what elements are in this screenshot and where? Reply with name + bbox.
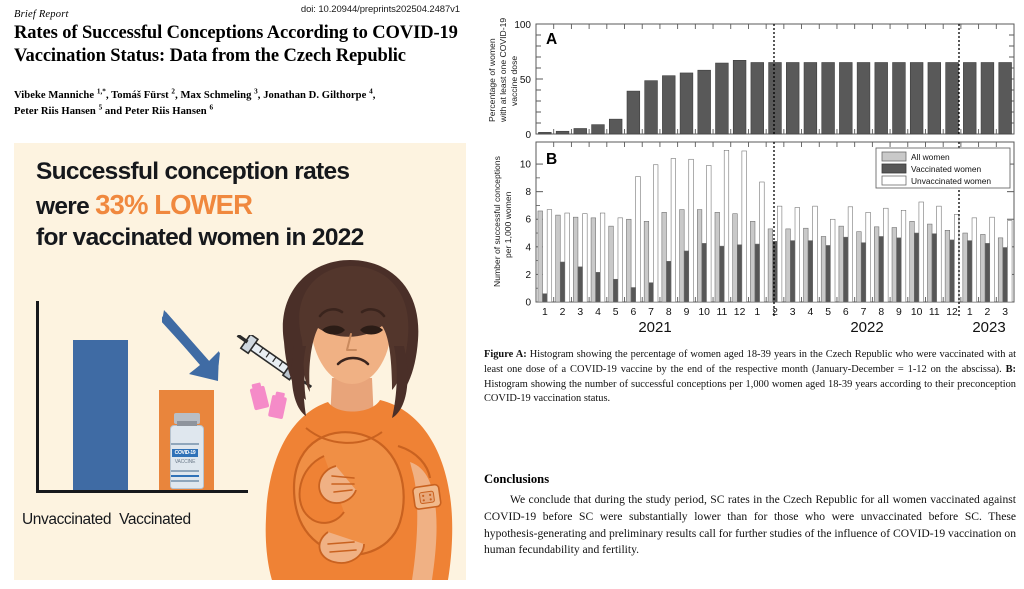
- vial-stripe-4: [171, 480, 199, 482]
- left-column: Brief Report doi: 10.20944/preprints2025…: [0, 0, 472, 589]
- legend-swatch-unvaccinated: [882, 176, 906, 185]
- panel-b-bar: [609, 226, 614, 302]
- panel-b-bar: [583, 214, 588, 302]
- panel-b-bar: [556, 215, 561, 302]
- legend-label-unvaccinated: Unvaccinated women: [911, 176, 991, 186]
- panel-a-ylabel-line3: vaccine dose: [509, 56, 519, 106]
- panel-a-bar: [893, 63, 906, 135]
- panel-b-bar: [706, 165, 711, 302]
- page-title: Rates of Successful Conceptions Accordin…: [14, 22, 462, 69]
- panel-b-ytick-label: 0: [525, 298, 531, 309]
- panel-b-bar: [874, 227, 879, 302]
- preprint-page: Brief Report doi: 10.20944/preprints2025…: [0, 0, 1024, 589]
- panel-b-month-label: 2: [985, 307, 991, 318]
- panel-b-bar: [826, 245, 831, 302]
- panel-b-month-label: 3: [577, 307, 583, 318]
- panel-b-year-2021: 2021: [638, 319, 671, 336]
- panel-b-month-label: 1: [967, 307, 973, 318]
- panel-b-month-label: 10: [698, 307, 710, 318]
- panel-a-bar: [574, 129, 587, 135]
- panel-b-ytick-label: 2: [525, 270, 531, 281]
- panel-a-ytick-100: 100: [514, 20, 531, 31]
- panel-b-month-label: 5: [825, 307, 831, 318]
- panel-b-bar: [910, 221, 915, 302]
- vial-stripe-3: [171, 475, 199, 477]
- panel-a-ylabel-line1: Percentage of women: [487, 38, 497, 122]
- axis-label-vaccinated: Vaccinated: [119, 511, 191, 529]
- panel-b-bar: [839, 226, 844, 302]
- panel-b: Number of successful conceptions per 1,0…: [492, 142, 1014, 336]
- panel-b-legend: All women Vaccinated women Unvaccinated …: [876, 148, 1010, 188]
- panel-a-bar: [751, 63, 764, 135]
- panel-b-bar: [680, 210, 685, 302]
- panel-b-month-label: 5: [613, 307, 619, 318]
- panel-b-bar: [919, 202, 924, 302]
- panel-b-bar: [684, 251, 689, 302]
- panel-b-ytick-label: 8: [525, 187, 531, 198]
- panel-a-ytick-0: 0: [525, 130, 531, 141]
- panel-b-bar: [596, 272, 601, 302]
- panel-b-bar: [937, 206, 942, 302]
- panel-b-bar: [578, 267, 583, 302]
- panel-b-bar: [804, 228, 809, 302]
- panel-b-month-label: 8: [666, 307, 672, 318]
- conclusions-body: We conclude that during the study period…: [484, 492, 1016, 559]
- panel-b-bar: [866, 212, 871, 302]
- panel-b-bar: [879, 236, 884, 302]
- panel-b-bar: [613, 279, 618, 302]
- panel-b-bar: [927, 224, 932, 302]
- legend-label-vaccinated: Vaccinated women: [911, 164, 981, 174]
- infographic-headline: Successful conception rates were 33% LOW…: [14, 143, 466, 254]
- panel-b-bar: [892, 228, 897, 302]
- panel-b-bar: [981, 234, 986, 302]
- panel-a-bar: [839, 63, 852, 135]
- headline-line-2-prefix: were: [36, 193, 95, 220]
- headline-highlight: 33% LOWER: [95, 189, 252, 220]
- panel-a-bar: [822, 63, 835, 135]
- panel-b-bar: [733, 214, 738, 302]
- panel-a-bar: [609, 119, 622, 134]
- panel-b-month-label: 3: [1002, 307, 1008, 318]
- panel-a: Percentage of women with at least one CO…: [487, 18, 1014, 141]
- panel-b-month-label: 1: [754, 307, 760, 318]
- panel-a-bar: [786, 63, 799, 135]
- panel-b-bar: [724, 150, 729, 302]
- panel-b-bar: [755, 244, 760, 302]
- panel-b-bar: [600, 213, 605, 302]
- panel-b-bar: [573, 217, 578, 302]
- panel-b-bar: [954, 214, 959, 302]
- panel-b-year-2023: 2023: [972, 319, 1005, 336]
- panel-a-bar: [928, 63, 941, 135]
- panel-b-bar: [671, 159, 676, 302]
- panel-b-bar: [848, 207, 853, 302]
- panel-b-bar: [897, 238, 902, 302]
- panel-b-bar: [963, 233, 968, 302]
- panel-b-month-label: 2: [560, 307, 566, 318]
- panel-a-bar: [875, 63, 888, 135]
- down-arrow-icon: [162, 308, 236, 386]
- caption-a-label: Figure A:: [484, 349, 527, 360]
- panel-a-bar: [698, 70, 711, 134]
- panel-b-bar: [662, 212, 667, 302]
- panel-b-month-label: 6: [630, 307, 636, 318]
- panel-b-ytick-label: 10: [520, 160, 532, 171]
- vial-label-covid: COVID-19: [172, 449, 198, 457]
- panel-a-letter: A: [546, 31, 557, 48]
- panel-b-month-label: 9: [896, 307, 902, 318]
- panel-b-month-label: 8: [878, 307, 884, 318]
- authors-line-1: Vibeke Manniche 1,*, Tomáš Fürst 2, Max …: [14, 90, 375, 101]
- panel-b-bar: [631, 288, 636, 302]
- panel-b-bar: [715, 212, 720, 302]
- panel-a-ytick-50: 50: [520, 75, 532, 86]
- pregnant-woman-illustration: [232, 250, 466, 580]
- headline-line-3: for vaccinated women in 2022: [36, 224, 364, 251]
- panel-a-bar: [910, 63, 923, 135]
- panel-b-month-label: 7: [648, 307, 654, 318]
- panel-b-bar: [737, 245, 742, 302]
- panel-a-bar: [946, 63, 959, 135]
- panel-a-bar: [963, 63, 976, 135]
- right-column: Percentage of women with at least one CO…: [476, 0, 1024, 589]
- panel-b-bar: [813, 206, 818, 302]
- panel-b-bar: [857, 232, 862, 302]
- panel-a-bar: [662, 76, 675, 134]
- conclusions-heading: Conclusions: [484, 472, 549, 487]
- panel-b-month-label: 9: [684, 307, 690, 318]
- panel-b-bar: [644, 221, 649, 302]
- panel-b-month-label: 11: [929, 307, 940, 318]
- vial-label-vaccine: VACCINE: [172, 459, 198, 465]
- panel-a-bar: [645, 81, 658, 134]
- panel-b-bar: [591, 218, 596, 302]
- panel-a-bar: [538, 132, 551, 134]
- panel-b-bar: [1003, 248, 1008, 302]
- panel-b-bar: [808, 241, 813, 302]
- panel-b-bar: [697, 210, 702, 302]
- panel-a-bar: [999, 63, 1012, 135]
- panel-b-bar: [750, 221, 755, 302]
- doi-text: doi: 10.20944/preprints202504.2487v1: [301, 4, 460, 15]
- panel-b-bar: [967, 241, 972, 302]
- panel-b-letter: B: [546, 151, 557, 168]
- panel-b-month-labels: 123456789101112123456789101112123: [542, 307, 1008, 318]
- panel-b-bar: [720, 246, 725, 302]
- panel-b-bar: [945, 230, 950, 302]
- panel-b-bar: [795, 208, 800, 302]
- panel-b-ytick-label: 4: [525, 242, 531, 253]
- panel-a-bar: [592, 125, 605, 134]
- panel-b-bar: [742, 151, 747, 302]
- authors-line-2: Peter Riis Hansen 5 and Peter Riis Hanse…: [14, 106, 213, 117]
- panel-b-bar: [1007, 221, 1012, 302]
- chart-x-axis: [36, 490, 248, 493]
- chart-y-axis: [36, 301, 39, 493]
- caption-a-text: Histogram showing the percentage of wome…: [484, 349, 1016, 375]
- panel-a-bar: [733, 60, 746, 134]
- panel-a-bar: [556, 131, 569, 134]
- author-list: Vibeke Manniche 1,*, Tomáš Fürst 2, Max …: [14, 86, 462, 120]
- vial-cap-ring: [177, 421, 197, 426]
- panel-b-bar: [932, 234, 937, 302]
- panel-b-month-label: 12: [734, 307, 746, 318]
- panel-b-bar: [636, 176, 641, 302]
- panel-b-bar: [538, 211, 543, 302]
- panel-b-bar: [768, 229, 773, 302]
- panel-b-bar: [702, 243, 707, 302]
- legend-swatch-vaccinated: [882, 164, 906, 173]
- panel-b-bar: [990, 217, 995, 302]
- panel-b-bar: [844, 237, 849, 302]
- panel-b-bar: [998, 238, 1003, 302]
- vial-stripe-2: [171, 470, 199, 472]
- panel-b-bar: [914, 233, 919, 302]
- legend-swatch-all-women: [882, 152, 906, 161]
- panel-b-bar: [786, 229, 791, 302]
- panel-a-bar: [627, 91, 640, 134]
- panel-b-bar: [985, 243, 990, 302]
- figure-caption: Figure A: Histogram showing the percenta…: [484, 348, 1016, 407]
- panel-b-month-label: 3: [790, 307, 796, 318]
- panel-b-bar: [972, 218, 977, 302]
- panel-b-year-2022: 2022: [850, 319, 883, 336]
- panel-b-bar: [790, 241, 795, 302]
- panel-a-bar: [804, 63, 817, 135]
- panel-b-bar: [626, 219, 631, 302]
- vaccine-vial-icon: COVID-19 VACCINE: [168, 413, 206, 489]
- bar-unvaccinated: [73, 340, 128, 490]
- header-row: Brief Report doi: 10.20944/preprints2025…: [14, 4, 462, 18]
- panel-b-ytick-label: 6: [525, 215, 531, 226]
- panel-b-month-label: 6: [843, 307, 849, 318]
- panel-b-bar: [689, 159, 694, 302]
- panel-a-bar: [981, 63, 994, 135]
- legend-label-all-women: All women: [911, 152, 950, 162]
- panel-b-bar: [547, 210, 552, 302]
- axis-label-unvaccinated: Unvaccinated: [22, 511, 111, 529]
- headline-line-1: Successful conception rates: [36, 158, 349, 185]
- panel-b-bar: [950, 240, 955, 302]
- panel-a-bar: [769, 63, 782, 135]
- caption-b-label: B:: [1006, 364, 1016, 375]
- panel-b-bar: [543, 294, 548, 302]
- panel-b-month-label: 2: [772, 307, 778, 318]
- panel-b-bar: [901, 210, 906, 302]
- panel-b-ylabel-line2: per 1,000 women: [503, 191, 513, 258]
- panel-b-bar: [821, 236, 826, 302]
- figure-chart: Percentage of women with at least one CO…: [484, 2, 1022, 338]
- vial-stripe-1: [171, 443, 199, 445]
- article-type-label: Brief Report: [14, 9, 69, 20]
- panel-b-month-label: 12: [946, 307, 958, 318]
- panel-b-bar: [777, 206, 782, 302]
- panel-b-month-label: 4: [808, 307, 814, 318]
- panel-a-bar: [680, 73, 693, 134]
- infographic-panel: Successful conception rates were 33% LOW…: [14, 143, 466, 580]
- caption-b-text: Histogram showing the number of successf…: [484, 379, 1016, 405]
- panel-a-bar: [857, 63, 870, 135]
- panel-b-bar: [830, 219, 835, 302]
- panel-b-bar: [760, 182, 765, 302]
- panel-b-bar: [649, 283, 654, 302]
- panel-b-month-label: 11: [716, 307, 727, 318]
- panel-b-bar: [666, 261, 671, 302]
- panel-a-bar: [716, 63, 729, 134]
- panel-b-bar: [618, 218, 623, 302]
- panel-b-bar: [861, 243, 866, 302]
- panel-b-month-label: 4: [595, 307, 601, 318]
- panel-b-bar: [565, 213, 570, 302]
- panel-b-month-label: 10: [911, 307, 923, 318]
- panel-b-ylabel-line1: Number of successful conceptions: [492, 156, 502, 287]
- panel-b-bar: [884, 208, 889, 302]
- panel-b-bar: [560, 262, 565, 302]
- panel-a-ylabel-line2: with at least one COVID-19: [498, 18, 508, 123]
- panel-b-bar: [653, 165, 658, 302]
- panel-b-month-label: 1: [542, 307, 548, 318]
- panel-b-month-label: 7: [861, 307, 867, 318]
